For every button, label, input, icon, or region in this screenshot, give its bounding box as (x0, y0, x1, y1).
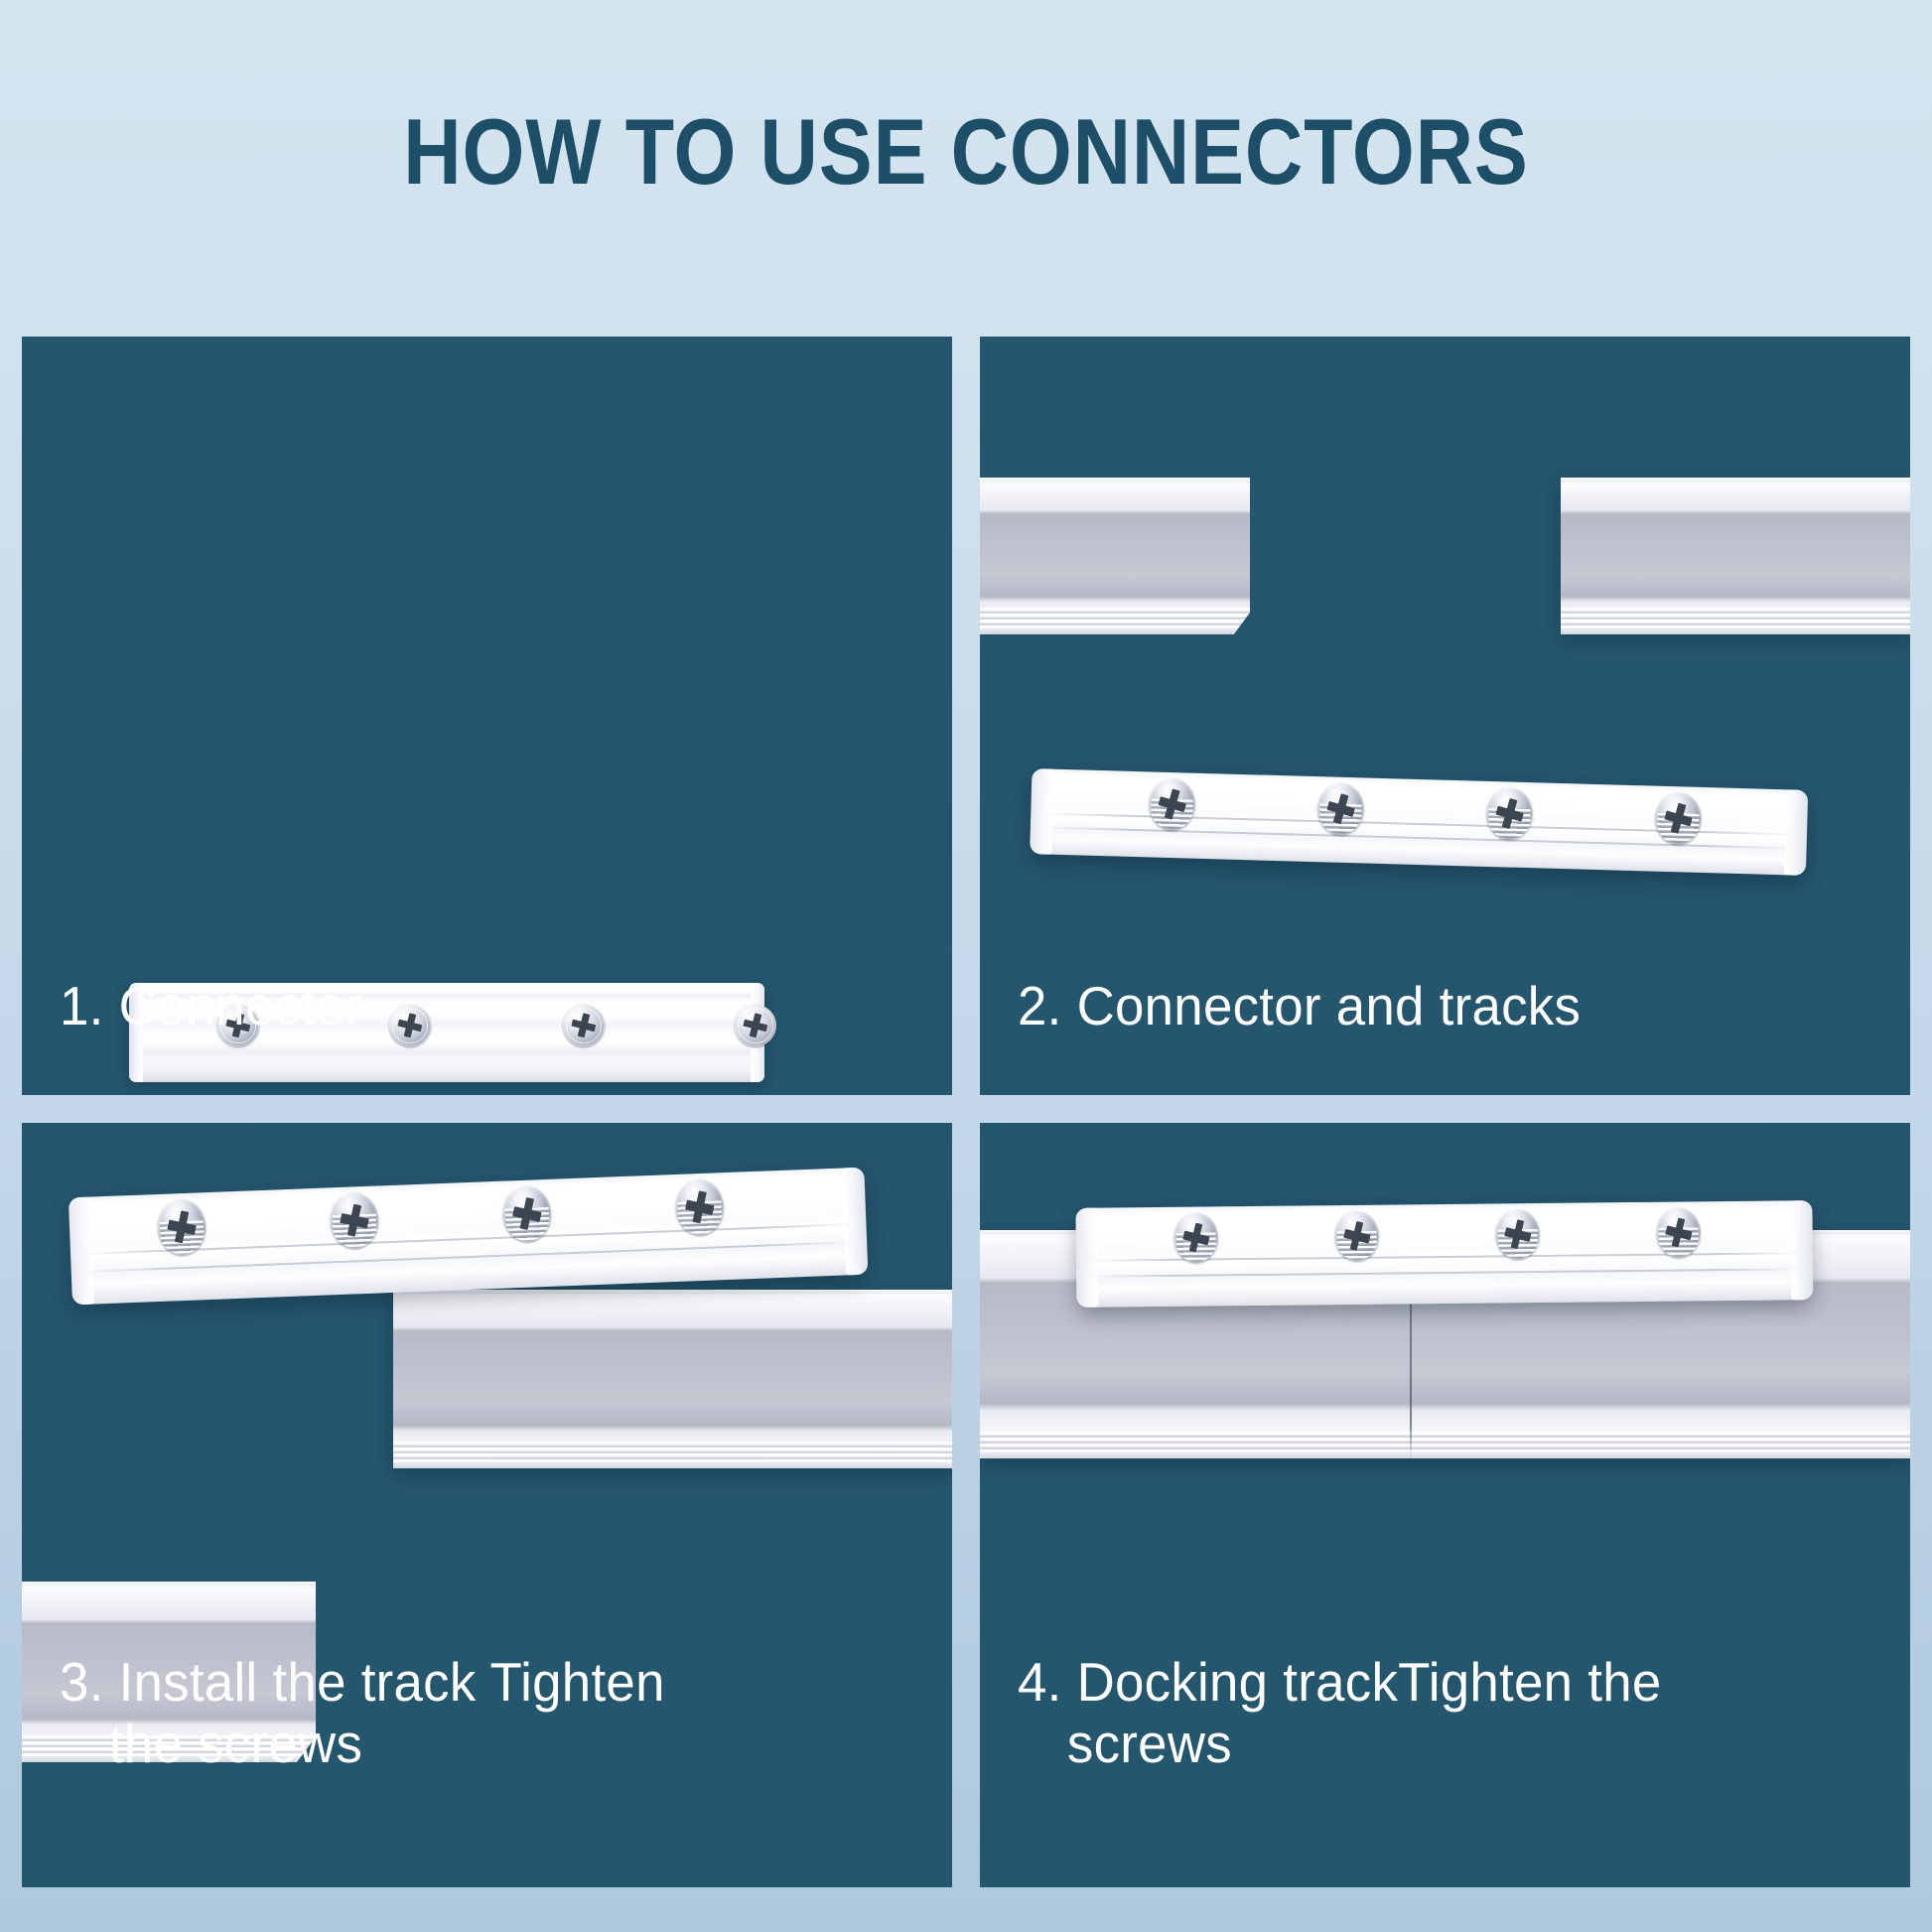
track-grooves (1561, 608, 1910, 629)
step-caption-4-line1: 4. Docking trackTighten the (1018, 1651, 1662, 1713)
track-grooves (393, 1442, 952, 1463)
page-title: HOW TO USE CONNECTORS (0, 105, 1932, 199)
connector-assembly (1030, 759, 1807, 899)
track-lip-bottom (1561, 629, 1910, 634)
track-lip-bottom (393, 1463, 952, 1468)
screw-3 (1486, 787, 1533, 840)
screw-3 (1495, 1209, 1540, 1259)
track-left (980, 478, 1250, 634)
step-caption-4: 4. Docking trackTighten the screws (1018, 1591, 1662, 1836)
track-grooves (980, 608, 1250, 629)
track-grooves (980, 1432, 1910, 1453)
connector-cap-right (842, 1168, 868, 1276)
step-caption-3-line1: 3. Install the track Tighten (60, 1651, 665, 1713)
screw-2 (389, 1005, 431, 1046)
connector-cap-left (1030, 768, 1053, 855)
steps-grid: 1. Connector (22, 337, 1910, 1887)
step-panel-2: 2. Connector and tracks (980, 337, 1910, 1095)
screw-1 (1173, 1212, 1218, 1262)
step-panel-4: 4. Docking trackTighten the screws (980, 1123, 1910, 1887)
connector-cap-left (69, 1197, 94, 1306)
screw-4 (1655, 792, 1702, 845)
connector-cap-left (1075, 1208, 1098, 1308)
connector-assembly (1076, 1192, 1812, 1334)
step-panel-1: 1. Connector (22, 337, 952, 1095)
screw-2 (1317, 782, 1364, 835)
track-lip-top (980, 478, 1250, 482)
step-caption-3: 3. Install the track Tighten the screws (60, 1591, 665, 1836)
step-caption-1: 1. Connector (60, 976, 363, 1037)
screw-1 (1149, 777, 1195, 830)
step-panel-3: 3. Install the track Tighten the screws (22, 1123, 952, 1887)
track-lip-top (1561, 478, 1910, 482)
step-caption-4-line2: screws (1018, 1714, 1662, 1775)
track-right (1561, 478, 1910, 634)
track-lip-bottom (980, 629, 1250, 634)
screw-4 (735, 1005, 776, 1046)
screw-2 (1334, 1211, 1379, 1261)
step-caption-2: 2. Connector and tracks (1018, 976, 1581, 1037)
page-title-text: HOW TO USE CONNECTORS (403, 105, 1528, 199)
screw-4 (1656, 1207, 1701, 1257)
step-caption-3-line2: the screws (60, 1714, 665, 1775)
connector-cap-right (1790, 1200, 1813, 1300)
connector-ridge (1087, 1268, 1802, 1278)
connector-assembly (69, 1156, 868, 1335)
track-lip-top (22, 1582, 316, 1586)
screw-3 (563, 1005, 605, 1046)
track-lip-bottom (980, 1453, 1910, 1458)
